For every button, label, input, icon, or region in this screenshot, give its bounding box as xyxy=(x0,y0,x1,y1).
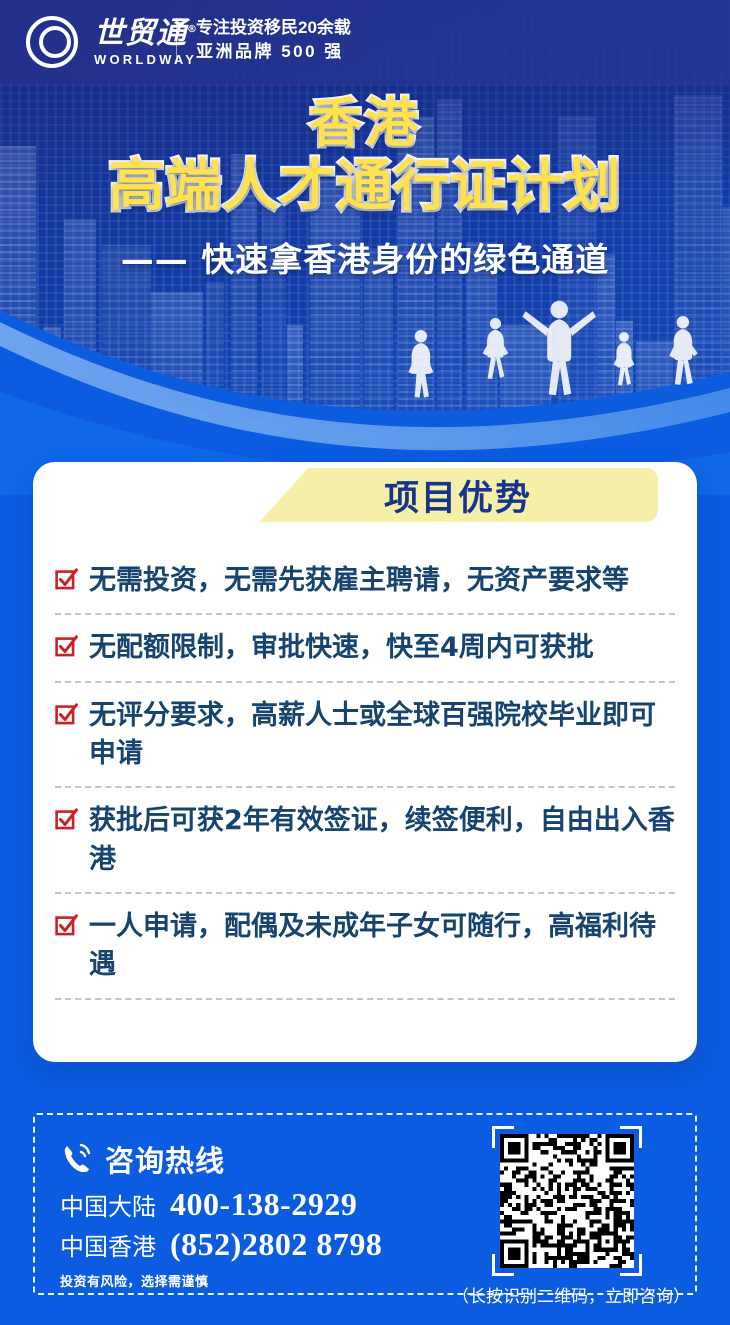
running-people-silhouettes xyxy=(400,300,730,430)
qr-corner-top-left-icon xyxy=(492,1126,514,1148)
checkbox-checked-icon xyxy=(55,914,78,937)
advantage-item-text: 获批后可获2年有效签证，续签便利，自由出入香港 xyxy=(89,802,675,879)
phone-ring-icon xyxy=(60,1140,94,1179)
advantage-item-text: 无评分要求，高薪人士或全球百强院校毕业即可申请 xyxy=(89,697,675,774)
page-subtitle: —— 快速拿香港身份的绿色通道 xyxy=(0,233,730,281)
checkbox-checked-icon xyxy=(55,703,78,726)
brand-name-en: WORLDWAY xyxy=(94,53,198,66)
checkbox-checked-icon xyxy=(55,635,78,658)
brand-name-cn: 世贸通® xyxy=(94,19,198,49)
advantage-item: 无需投资，无需先获雇主聘请，无资产要求等 xyxy=(33,548,697,613)
logo-divider xyxy=(176,18,177,64)
page-title-line-1: 香港 xyxy=(0,96,730,152)
checkbox-checked-icon xyxy=(55,808,78,831)
poster-root: 世贸通® WORLDWAY 专注投资移民20余载 亚洲品牌 500 强 香港 高… xyxy=(0,0,730,1325)
advantage-item-text: 无需投资，无需先获雇主聘请，无资产要求等 xyxy=(89,562,629,600)
advantage-item-row: 无评分要求，高薪人士或全球百强院校毕业即可申请 xyxy=(55,697,675,774)
hotline-label: 咨询热线 xyxy=(105,1138,225,1180)
qr-code-image[interactable] xyxy=(500,1134,634,1268)
slogan-line-1: 专注投资移民20余载 xyxy=(196,16,351,40)
hero-title-block: 香港 高端人才通行证计划 —— 快速拿香港身份的绿色通道 xyxy=(0,96,730,281)
contact-phone-number[interactable]: (852)2802 8798 xyxy=(170,1226,382,1263)
advantage-item-row: 获批后可获2年有效签证，续签便利，自由出入香港 xyxy=(55,802,675,879)
advantage-item-row: 无需投资，无需先获雇主聘请，无资产要求等 xyxy=(55,562,675,600)
advantage-item-text: 一人申请，配偶及未成年子女可随行，高福利待遇 xyxy=(89,908,675,985)
brand-slogan: 专注投资移民20余载 亚洲品牌 500 强 xyxy=(196,16,351,64)
contact-region-label: 中国大陆 xyxy=(60,1187,156,1222)
checkbox-checked-icon xyxy=(55,568,78,591)
qr-corner-bottom-right-icon xyxy=(620,1254,642,1276)
contact-row-hongkong[interactable]: 中国香港 (852)2802 8798 xyxy=(60,1226,382,1263)
page-title-line-2: 高端人才通行证计划 xyxy=(0,156,730,219)
hotline-header: 咨询热线 xyxy=(60,1138,225,1180)
advantage-item: 无配额限制，审批快速，快至4周内可获批 xyxy=(33,615,697,680)
qr-code-caption: （长按识别二维码，立即咨询） xyxy=(452,1282,684,1307)
brand-logo[interactable]: 世贸通® WORLDWAY xyxy=(24,14,198,70)
qr-code-block[interactable] xyxy=(492,1126,642,1276)
advantage-item: 获批后可获2年有效签证，续签便利，自由出入香港 xyxy=(33,788,697,892)
advantages-list: 无需投资，无需先获雇主聘请，无资产要求等无配额限制，审批快速，快至4周内可获批无… xyxy=(33,548,697,1000)
brand-name-cn-text: 世贸通 xyxy=(94,16,187,51)
worldway-circle-logo-icon xyxy=(24,14,80,70)
advantage-item: 一人申请，配偶及未成年子女可随行，高福利待遇 xyxy=(33,894,697,998)
contact-row-mainland[interactable]: 中国大陆 400-138-2929 xyxy=(60,1186,357,1223)
advantages-badge-label: 项目优势 xyxy=(258,468,658,522)
advantage-item-row: 一人申请，配偶及未成年子女可随行，高福利待遇 xyxy=(55,908,675,985)
contact-region-label: 中国香港 xyxy=(60,1227,156,1262)
advantage-item-row: 无配额限制，审批快速，快至4周内可获批 xyxy=(55,629,675,667)
contact-phone-number[interactable]: 400-138-2929 xyxy=(170,1186,357,1223)
slogan-line-2: 亚洲品牌 500 强 xyxy=(196,40,351,64)
investment-disclaimer: 投资有风险，选择需谨慎 xyxy=(60,1271,209,1290)
qr-corner-top-right-icon xyxy=(620,1126,642,1148)
qr-corner-bottom-left-icon xyxy=(492,1254,514,1276)
advantage-separator xyxy=(55,998,675,1000)
advantage-item-text: 无配额限制，审批快速，快至4周内可获批 xyxy=(89,629,594,667)
advantage-item: 无评分要求，高薪人士或全球百强院校毕业即可申请 xyxy=(33,683,697,787)
